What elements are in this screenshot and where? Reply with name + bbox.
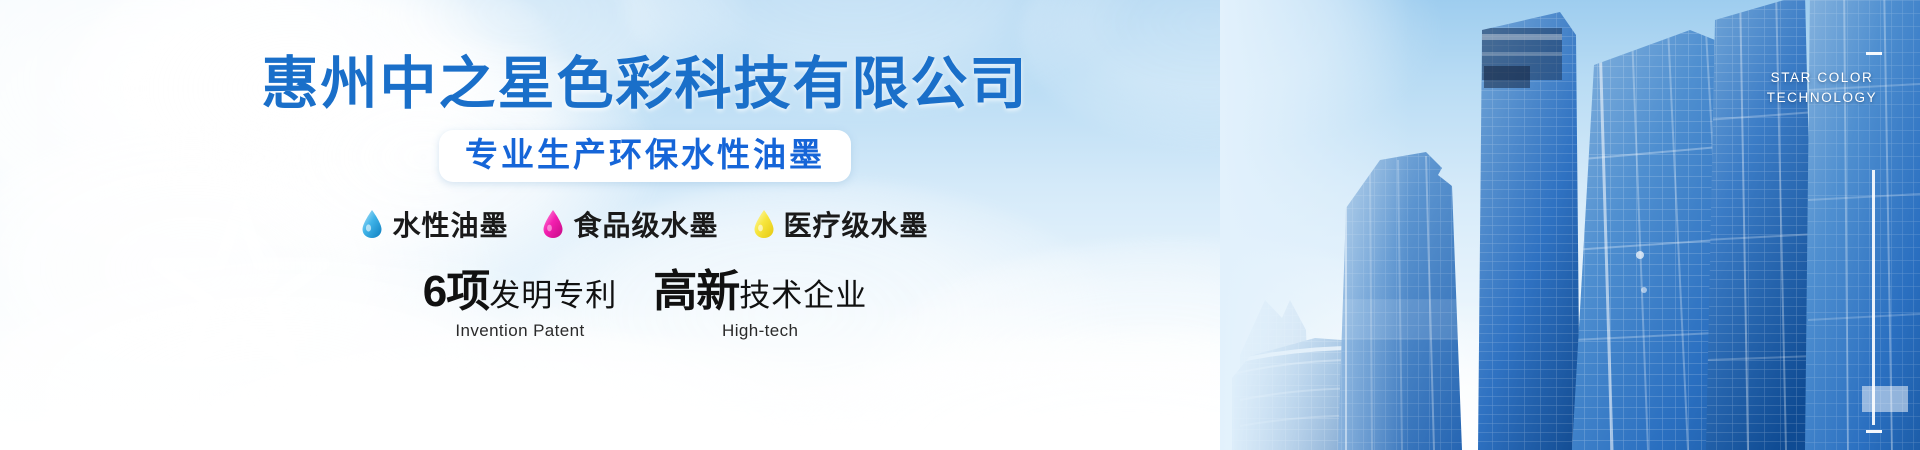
credential-list: 6项发明专利 Invention Patent 高新技术企业 High-tech bbox=[423, 270, 867, 341]
credential-high-tech: 高新技术企业 High-tech bbox=[653, 270, 867, 341]
tagline-text: 专业生产环保水性油墨 bbox=[465, 136, 825, 173]
brand-mark: STAR COLOR TECHNOLOGY bbox=[1742, 68, 1902, 107]
credential-highlight: 高新 bbox=[653, 267, 739, 316]
accent-vertical-rule bbox=[1872, 170, 1875, 425]
feature-label: 医疗级水墨 bbox=[784, 204, 929, 244]
credential-invention-patent: 6项发明专利 Invention Patent bbox=[423, 270, 617, 341]
list-item: 医疗级水墨 bbox=[753, 204, 929, 244]
credential-highlight: 6项 bbox=[423, 267, 489, 316]
tagline-pill: 专业生产环保水性油墨 bbox=[439, 130, 851, 182]
list-item: 食品级水墨 bbox=[542, 204, 718, 244]
feature-label: 水性油墨 bbox=[392, 204, 508, 244]
list-item: 水性油墨 bbox=[361, 204, 508, 244]
accent-tick-bottom bbox=[1866, 430, 1882, 433]
credential-subtitle: High-tech bbox=[653, 321, 867, 341]
credential-subtitle: Invention Patent bbox=[423, 321, 617, 341]
water-drop-icon bbox=[542, 209, 564, 239]
page-title: 惠州中之星色彩科技有限公司 bbox=[262, 56, 1029, 113]
accent-tick-top bbox=[1866, 52, 1882, 55]
brand-mark-line1: STAR COLOR bbox=[1742, 68, 1902, 88]
brand-mark-line2: TECHNOLOGY bbox=[1742, 88, 1902, 108]
credential-label: 发明专利 bbox=[489, 278, 617, 313]
feature-label: 食品级水墨 bbox=[573, 204, 718, 244]
water-drop-icon bbox=[753, 209, 775, 239]
feature-list: 水性油墨 食品级水墨 bbox=[361, 204, 928, 244]
water-drop-icon bbox=[361, 209, 383, 239]
credential-label: 技术企业 bbox=[739, 278, 867, 313]
company-hero-banner: Star Color bbox=[0, 0, 1920, 450]
banner-content: 惠州中之星色彩科技有限公司 专业生产环保水性油墨 水性油墨 bbox=[0, 0, 1290, 450]
